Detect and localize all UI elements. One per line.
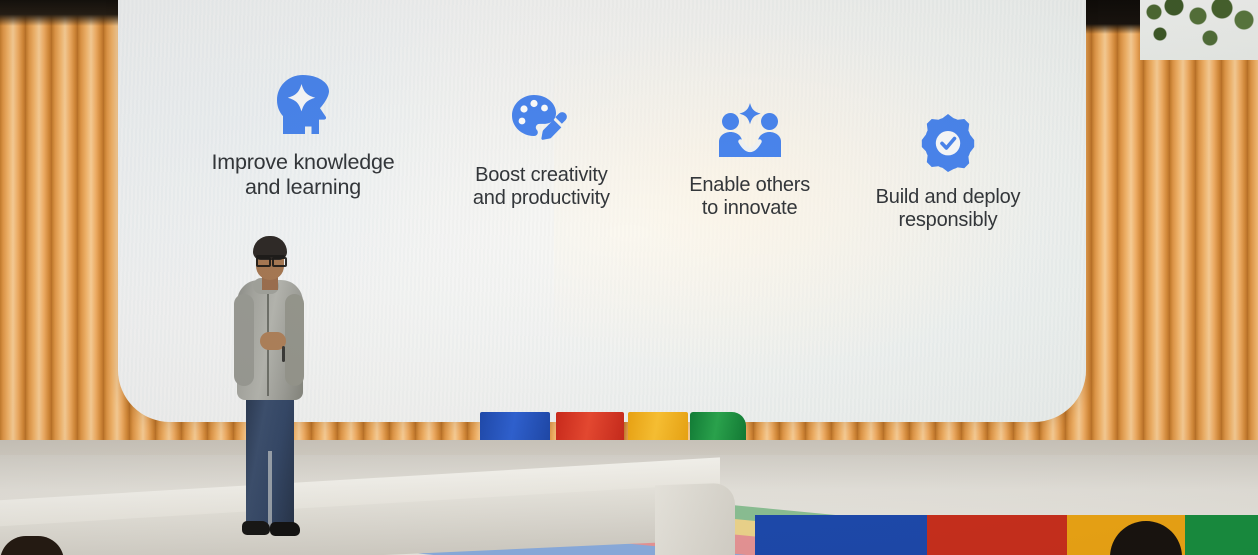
pillar-label: Improve knowledge and learning xyxy=(211,150,394,199)
presenter-shoe-right xyxy=(270,522,300,536)
presenter-glasses xyxy=(256,255,285,264)
pillar-enable-others: Enable others to innovate xyxy=(655,92,845,220)
presenter-arm-right xyxy=(285,294,304,386)
edge-red xyxy=(927,515,1067,555)
stage-riser-edge xyxy=(655,483,735,555)
presenter xyxy=(222,236,308,532)
keynote-stage-photo: Improve knowledge and learning Boost cr xyxy=(0,0,1258,555)
head-with-sparkle-icon xyxy=(272,68,334,146)
pillar-label: Enable others to innovate xyxy=(689,174,810,220)
presenter-leg-gap xyxy=(268,451,272,531)
pillar-improve-knowledge: Improve knowledge and learning xyxy=(178,68,428,199)
two-people-with-sparkle-icon xyxy=(718,92,782,170)
pillar-label: Build and deploy responsibly xyxy=(876,186,1021,232)
trees-and-sky xyxy=(1140,0,1258,60)
edge-blue xyxy=(755,515,927,555)
presenter-clicker xyxy=(282,346,285,362)
edge-green xyxy=(1185,515,1258,555)
palette-and-brush-icon xyxy=(510,82,572,160)
pillar-build-deploy: Build and deploy responsibly xyxy=(858,104,1038,232)
presenter-shoe-left xyxy=(242,521,270,535)
presenter-arm-left xyxy=(234,294,254,386)
gear-with-checkmark-icon xyxy=(919,104,977,182)
pillar-boost-creativity: Boost creativity and productivity xyxy=(441,82,641,210)
pillar-label: Boost creativity and productivity xyxy=(473,164,610,210)
slide-pillars: Improve knowledge and learning Boost cr xyxy=(178,68,1038,238)
